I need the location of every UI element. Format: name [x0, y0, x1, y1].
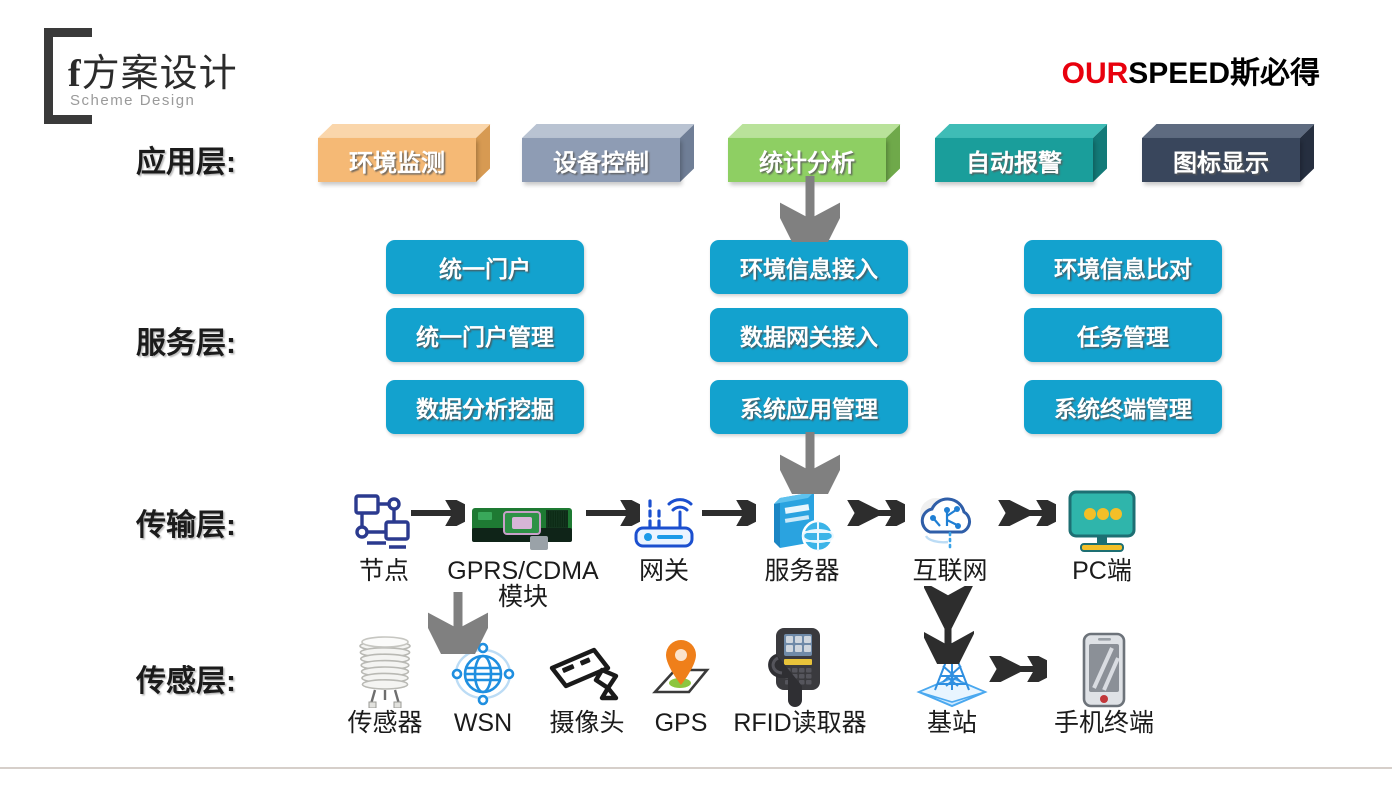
node-weather-sensor[interactable]: 传感器: [330, 636, 440, 738]
brand-speed: SPEED斯必得: [1128, 57, 1320, 90]
node-label: 节点: [336, 558, 432, 586]
flow-arrow: [407, 500, 465, 526]
app-box-1[interactable]: 设备控制: [522, 124, 680, 168]
layer-label-transmission: 传输层:: [136, 500, 236, 544]
node-server[interactable]: 服务器: [742, 484, 862, 586]
bidirectional-arrow: [847, 500, 905, 526]
cctv-camera-icon: [546, 646, 628, 708]
node-label: GPRS/CDMA: [440, 558, 606, 586]
flow-arrow: [582, 500, 640, 526]
stats-to-service-arrow: [780, 176, 840, 242]
node-label: 摄像头: [532, 710, 642, 738]
internet-cloud-icon: [910, 486, 990, 556]
brand-our: OUR: [1062, 57, 1129, 90]
app-box-top-face: [1142, 124, 1314, 138]
service-pill[interactable]: 环境信息比对: [1024, 240, 1222, 294]
layer-label-service: 服务层:: [136, 318, 236, 362]
node-icon-wrap: [742, 484, 862, 556]
gprs-cdma-module-icon: [468, 496, 578, 556]
node-icon-wrap: [330, 636, 440, 708]
app-box-3[interactable]: 自动报警: [935, 124, 1093, 168]
service-to-server-arrow: [780, 432, 840, 494]
node-label: GPS: [642, 710, 720, 738]
bidirectional-connector: [989, 656, 1047, 687]
node-label: 基站: [902, 710, 1002, 738]
bidirectional-arrow: [989, 656, 1047, 682]
service-pill[interactable]: 系统应用管理: [710, 380, 908, 434]
service-pill[interactable]: 数据网关接入: [710, 308, 908, 362]
internet-to-basestation-arrow: [924, 586, 974, 664]
app-box-label: 环境监测: [318, 138, 476, 182]
app-box-top-face: [728, 124, 900, 138]
page-title: f方案设计: [68, 42, 238, 97]
app-box-0[interactable]: 环境监测: [318, 124, 476, 168]
node-icon-wrap: [1034, 636, 1174, 708]
service-pill[interactable]: 任务管理: [1024, 308, 1222, 362]
node-icon-wrap: [1044, 484, 1160, 556]
page-subtitle: Scheme Design: [70, 92, 195, 109]
footer-divider: [0, 767, 1392, 769]
node-cctv-camera[interactable]: 摄像头: [532, 636, 642, 738]
node-label: PC端: [1044, 558, 1160, 586]
node-icon-wrap: [642, 636, 720, 708]
app-box-top-face: [318, 124, 490, 138]
service-pill[interactable]: 统一门户管理: [386, 308, 584, 362]
node-label: 互联网: [890, 558, 1010, 586]
bidirectional-connector: [847, 500, 905, 531]
brand-logo: OURSPEED斯必得: [1062, 48, 1320, 92]
node-gps-pin[interactable]: GPS: [642, 636, 720, 738]
flow-arrow: [698, 500, 756, 526]
module-to-wsn-arrow: [428, 592, 488, 654]
app-box-top-face: [522, 124, 694, 138]
flow-connector: [407, 500, 465, 531]
app-box-4[interactable]: 图标显示: [1142, 124, 1300, 168]
bidirectional-arrow: [998, 500, 1056, 526]
node-label: RFID读取器: [720, 710, 880, 738]
node-label: 服务器: [742, 558, 862, 586]
flow-connector: [582, 500, 640, 531]
rfid-reader-icon: [762, 624, 838, 708]
node-internet-cloud[interactable]: 互联网: [890, 484, 1010, 586]
layer-label-application: 应用层:: [136, 137, 236, 181]
node-label: WSN: [444, 710, 522, 738]
node-icon-wrap: [720, 636, 880, 708]
node-pc-monitor[interactable]: PC端: [1044, 484, 1160, 586]
node-label: 手机终端: [1034, 710, 1174, 738]
service-pill[interactable]: 系统终端管理: [1024, 380, 1222, 434]
mobile-phone-icon: [1076, 632, 1132, 708]
app-box-label: 自动报警: [935, 138, 1093, 182]
bidirectional-connector: [998, 500, 1056, 531]
diagram-canvas: f方案设计 Scheme Design OURSPEED斯必得 应用层: 服务层…: [0, 0, 1392, 787]
app-box-label: 图标显示: [1142, 138, 1300, 182]
node-icon-wrap: [532, 636, 642, 708]
node-rfid-reader[interactable]: RFID读取器: [720, 636, 880, 738]
node-mobile-phone[interactable]: 手机终端: [1034, 636, 1174, 738]
layer-label-sensing: 传感层:: [136, 656, 236, 700]
service-pill[interactable]: 数据分析挖掘: [386, 380, 584, 434]
pc-monitor-icon: [1065, 486, 1139, 556]
node-icon-wrap: [890, 484, 1010, 556]
app-box-top-face: [935, 124, 1107, 138]
service-pill[interactable]: 环境信息接入: [710, 240, 908, 294]
flow-connector: [698, 500, 756, 531]
title-f-mark: f: [68, 53, 82, 95]
weather-sensor-icon: [347, 632, 423, 708]
app-box-label: 设备控制: [522, 138, 680, 182]
app-box-2[interactable]: 统计分析: [728, 124, 886, 168]
node-label: 传感器: [330, 710, 440, 738]
service-pill[interactable]: 统一门户: [386, 240, 584, 294]
title-chinese: 方案设计: [82, 53, 238, 95]
node-label: 网关: [616, 558, 712, 586]
server-icon: [764, 484, 840, 556]
gps-pin-icon: [645, 636, 717, 708]
